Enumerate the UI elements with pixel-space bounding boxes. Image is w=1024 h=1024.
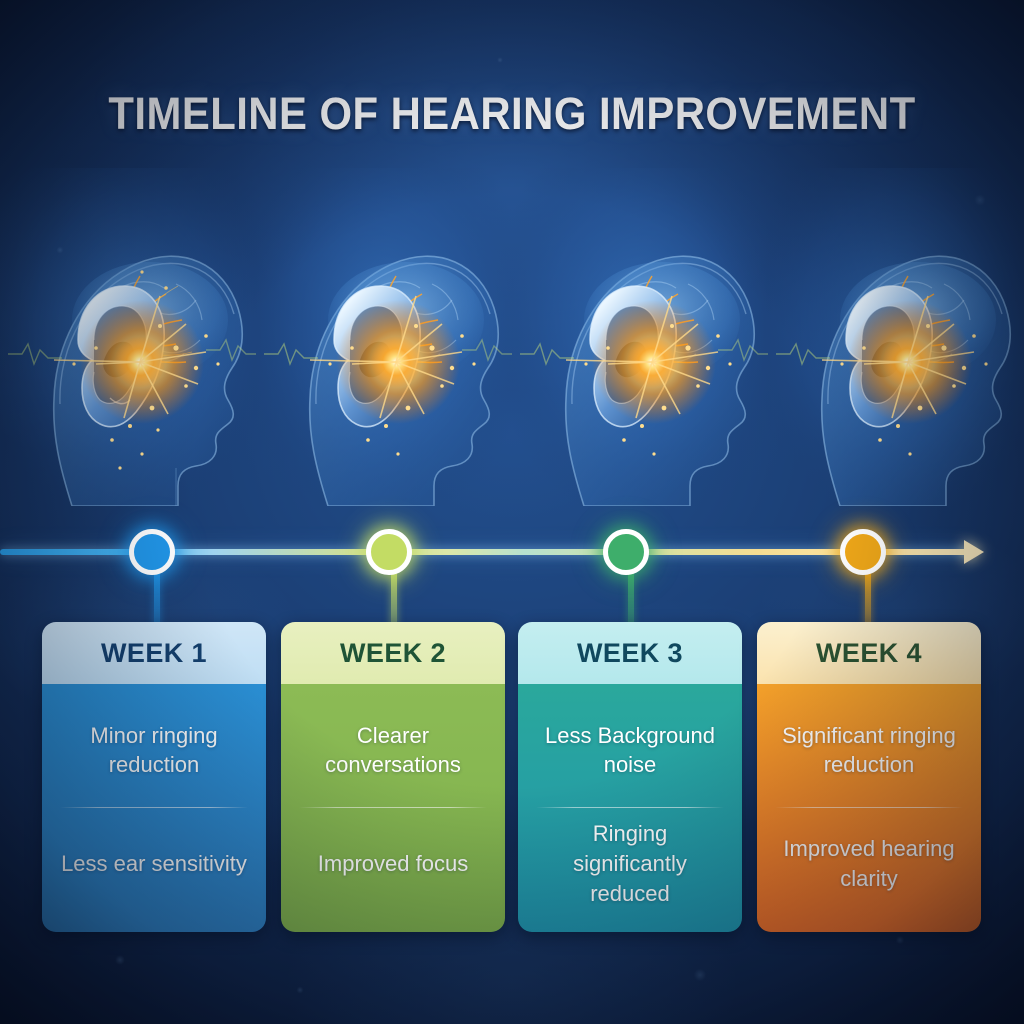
week-card-1[interactable]: WEEK 1 Minor ringing reduction Less ear … bbox=[42, 622, 266, 932]
week-card-3-body: Less Background noise Ringing significan… bbox=[518, 684, 742, 932]
week-card-2-divider bbox=[299, 807, 487, 808]
week-card-2-header: WEEK 2 bbox=[281, 622, 505, 684]
week-card-4-item-1: Significant ringing reduction bbox=[773, 698, 965, 803]
page-title: TIMELINE OF HEARING IMPROVEMENT bbox=[36, 88, 988, 140]
timeline-axis bbox=[0, 506, 1024, 616]
week-card-2-body: Clearer conversations Improved focus bbox=[281, 684, 505, 932]
week-card-4-divider bbox=[775, 807, 963, 808]
week-card-4[interactable]: WEEK 4 Significant ringing reduction Imp… bbox=[757, 622, 981, 932]
timeline-node-week-2[interactable] bbox=[366, 529, 412, 575]
week-card-1-item-2: Less ear sensitivity bbox=[58, 812, 250, 917]
timeline-stem-3 bbox=[628, 572, 634, 628]
week-card-3-title: WEEK 3 bbox=[577, 638, 683, 669]
week-card-3-item-1: Less Background noise bbox=[534, 698, 726, 803]
week-card-1-divider bbox=[60, 807, 248, 808]
week-card-1-body: Minor ringing reduction Less ear sensiti… bbox=[42, 684, 266, 932]
week-card-3[interactable]: WEEK 3 Less Background noise Ringing sig… bbox=[518, 622, 742, 932]
timeline-node-week-4[interactable] bbox=[840, 529, 886, 575]
infographic-canvas: TIMELINE OF HEARING IMPROVEMENT bbox=[0, 0, 1024, 1024]
timeline-node-week-3[interactable] bbox=[603, 529, 649, 575]
week-card-2-title: WEEK 2 bbox=[340, 638, 446, 669]
week-cards-row: WEEK 1 Minor ringing reduction Less ear … bbox=[0, 622, 1024, 934]
week-card-2-item-2: Improved focus bbox=[297, 812, 489, 917]
week-card-4-body: Significant ringing reduction Improved h… bbox=[757, 684, 981, 932]
illustration-strip bbox=[0, 168, 1024, 506]
week-card-1-header: WEEK 1 bbox=[42, 622, 266, 684]
timeline-stem-2 bbox=[391, 572, 397, 628]
week-card-3-item-2: Ringing significantly reduced bbox=[534, 812, 726, 917]
week-card-2-item-1: Clearer conversations bbox=[297, 698, 489, 803]
timeline-stem-1 bbox=[154, 572, 160, 628]
week-card-4-header: WEEK 4 bbox=[757, 622, 981, 684]
head-ear-nerve-illustration-1 bbox=[0, 168, 256, 506]
week-card-1-item-1: Minor ringing reduction bbox=[58, 698, 250, 803]
timeline-arrow-icon bbox=[964, 540, 984, 564]
week-card-1-title: WEEK 1 bbox=[101, 638, 207, 669]
week-card-4-title: WEEK 4 bbox=[816, 638, 922, 669]
week-card-3-divider bbox=[536, 807, 724, 808]
week-card-3-header: WEEK 3 bbox=[518, 622, 742, 684]
timeline-stem-4 bbox=[865, 572, 871, 628]
head-ear-nerve-illustration-2 bbox=[256, 168, 512, 506]
week-card-4-item-2: Improved hearing clarity bbox=[773, 812, 965, 917]
head-ear-nerve-illustration-4 bbox=[768, 168, 1024, 506]
timeline-node-week-1[interactable] bbox=[129, 529, 175, 575]
week-card-2[interactable]: WEEK 2 Clearer conversations Improved fo… bbox=[281, 622, 505, 932]
head-ear-nerve-illustration-3 bbox=[512, 168, 768, 506]
